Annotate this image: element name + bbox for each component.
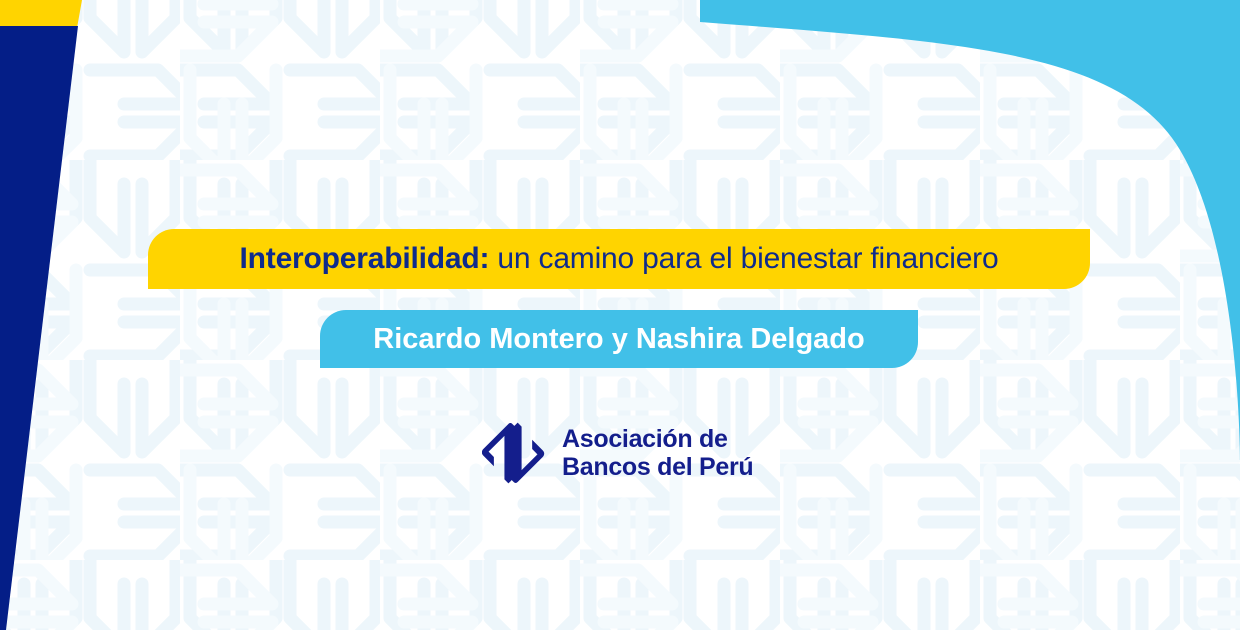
presentation-slide: Interoperabilidad: un camino para el bie…: [0, 0, 1240, 630]
slide-content: Interoperabilidad: un camino para el bie…: [0, 0, 1240, 630]
speakers-banner: Ricardo Montero y Nashira Delgado: [320, 310, 918, 368]
title-banner: Interoperabilidad: un camino para el bie…: [148, 229, 1090, 289]
title-rest: un camino para el bienestar financiero: [489, 242, 998, 275]
logo-line-1: Asociación de: [562, 425, 753, 454]
asbanc-logo: Asociación de Bancos del Perú: [482, 420, 753, 486]
asbanc-diamond-mark-icon: [482, 420, 548, 486]
title-emphasis: Interoperabilidad:: [240, 242, 490, 275]
asbanc-logo-wordmark: Asociación de Bancos del Perú: [562, 425, 753, 482]
logo-line-2: Bancos del Perú: [562, 453, 753, 482]
speakers-names: Ricardo Montero y Nashira Delgado: [373, 325, 865, 354]
page-title: Interoperabilidad: un camino para el bie…: [240, 244, 999, 274]
